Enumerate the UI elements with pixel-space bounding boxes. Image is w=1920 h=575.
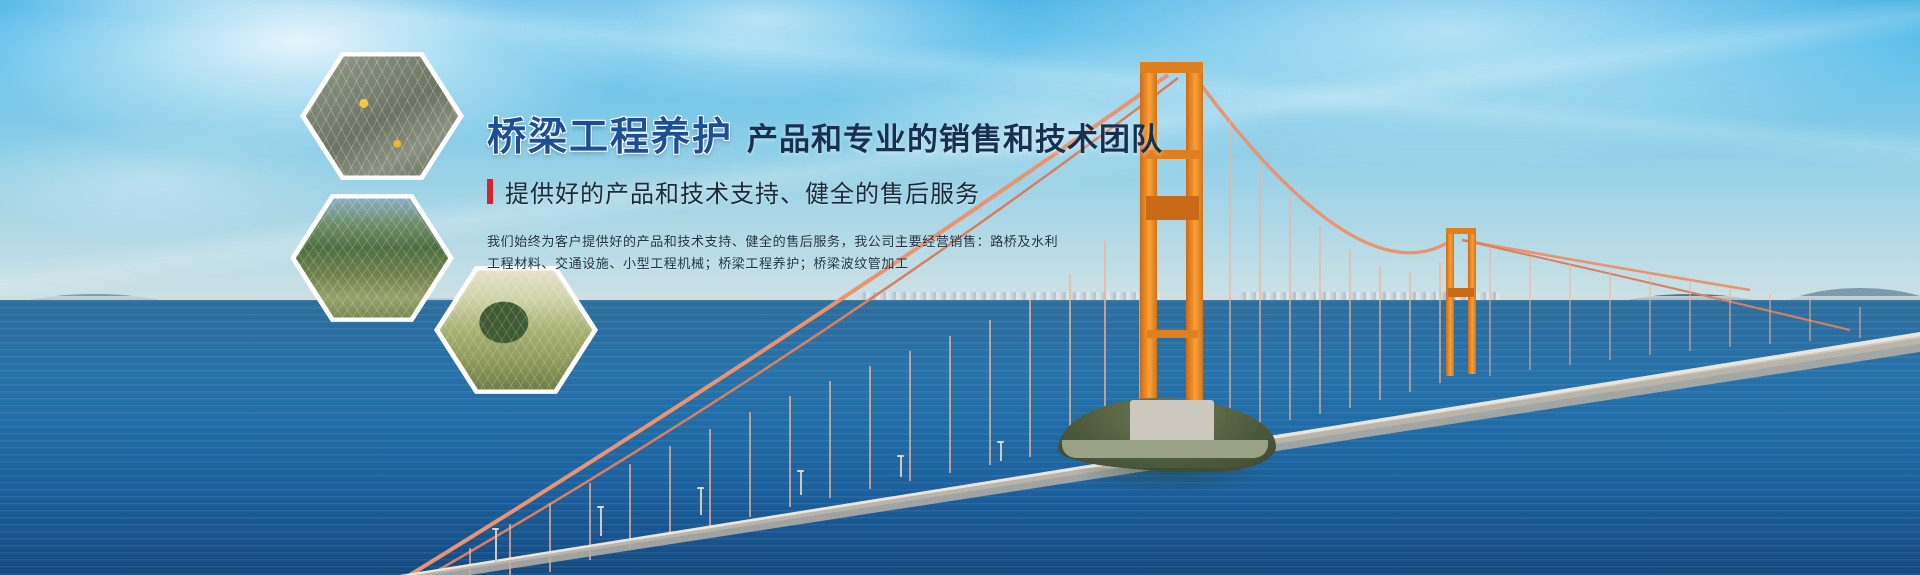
deck-lamp [1000, 441, 1002, 461]
hex-photo-slope-workers [300, 48, 464, 184]
hex-photo-vegetation-mesh-image [440, 267, 593, 393]
island-reflection [1070, 468, 1270, 494]
tower-main-crossbeam-lower [1147, 330, 1198, 338]
deck-lamp [900, 455, 902, 477]
island-retaining-wall [1062, 440, 1268, 458]
paragraph-line-1: 我们始终为客户提供好的产品和技术支持、健全的售后服务，我公司主要经营销售：路桥及… [487, 231, 1047, 253]
deck-lamp [495, 528, 497, 562]
tower-main-crossbeam-top [1140, 62, 1203, 73]
banner-copy: 桥梁工程养护 产品和专业的销售和技术团队 提供好的产品和技术支持、健全的售后服务… [487, 118, 1347, 275]
banner-headline: 桥梁工程养护 产品和专业的销售和技术团队 [487, 118, 1347, 157]
banner-paragraph: 我们始终为客户提供好的产品和技术支持、健全的售后服务，我公司主要经营销售：路桥及… [487, 231, 1047, 275]
deck-lamp [700, 487, 702, 515]
deck-lamp-head [697, 487, 704, 489]
tower-secondary-crossbeam-mid [1448, 288, 1474, 297]
hex-photo-vegetation-mesh [434, 262, 598, 398]
deck-lamp-head [597, 506, 604, 508]
deck-lamp-head [492, 528, 499, 530]
suspension-bridge [0, 0, 1920, 575]
deck-lamp-head [997, 441, 1004, 443]
hero-banner: 桥梁工程养护 产品和专业的销售和技术团队 提供好的产品和技术支持、健全的售后服务… [0, 0, 1920, 575]
subline-text: 提供好的产品和技术支持、健全的售后服务 [505, 174, 980, 209]
bridge-cables-svg [0, 0, 1920, 575]
hex-photo-hillside-mesh [290, 190, 454, 326]
hex-photo-hillside-mesh-image [296, 195, 449, 321]
deck-lamp-head [797, 470, 804, 472]
bridge-tower-secondary-left-leg [1446, 228, 1454, 376]
deck-lamp [800, 470, 802, 495]
deck-lamp [600, 506, 602, 536]
headline-sub-text: 产品和专业的销售和技术团队 [747, 124, 1163, 155]
paragraph-line-2: 工程材料、交通设施、小型工程机械；桥梁工程养护；桥梁波纹管加工 [487, 253, 1047, 275]
hex-photo-slope-workers-image [306, 53, 459, 179]
bridge-tower-secondary-right-leg [1468, 228, 1476, 374]
red-accent-bar [487, 179, 493, 204]
tower-secondary-crossbeam-top [1446, 228, 1476, 234]
banner-subline: 提供好的产品和技术支持、健全的售后服务 [487, 174, 1347, 209]
deck-lamp-head [897, 455, 904, 457]
headline-main-text: 桥梁工程养护 [487, 118, 733, 157]
